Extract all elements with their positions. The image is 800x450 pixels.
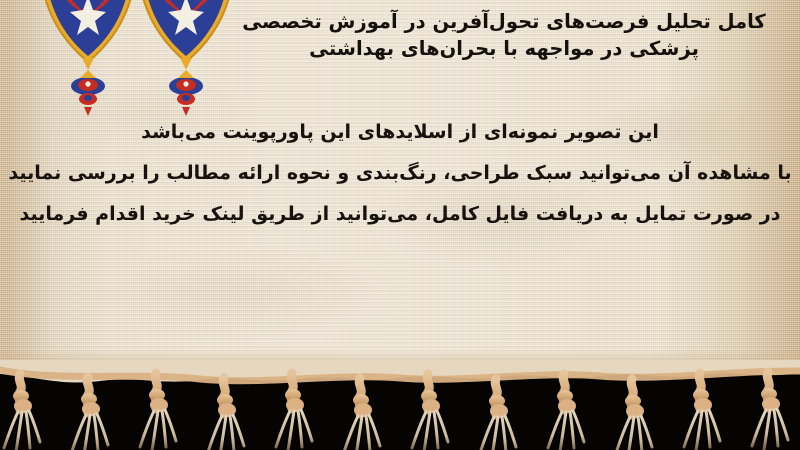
presentation-slide: کامل تحلیل فرصت‌های تحول‌آفرین در آموزش … <box>0 0 800 450</box>
black-floor <box>0 372 800 450</box>
body-line-3: در صورت تمایل به دریافت فایل کامل، می‌تو… <box>8 194 792 235</box>
slide-title: کامل تحلیل فرصت‌های تحول‌آفرین در آموزش … <box>224 8 784 62</box>
body-line-2: با مشاهده آن می‌توانید سبک طراحی، رنگ‌بن… <box>8 153 792 194</box>
body-line-1: این تصویر نمونه‌ای از اسلایدهای این پاور… <box>8 112 792 153</box>
slide-body: این تصویر نمونه‌ای از اسلایدهای این پاور… <box>8 112 792 235</box>
title-line-2: پزشکی در مواجهه با بحران‌های بهداشتی <box>224 35 784 62</box>
title-line-1: کامل تحلیل فرصت‌های تحول‌آفرین در آموزش … <box>224 8 784 35</box>
